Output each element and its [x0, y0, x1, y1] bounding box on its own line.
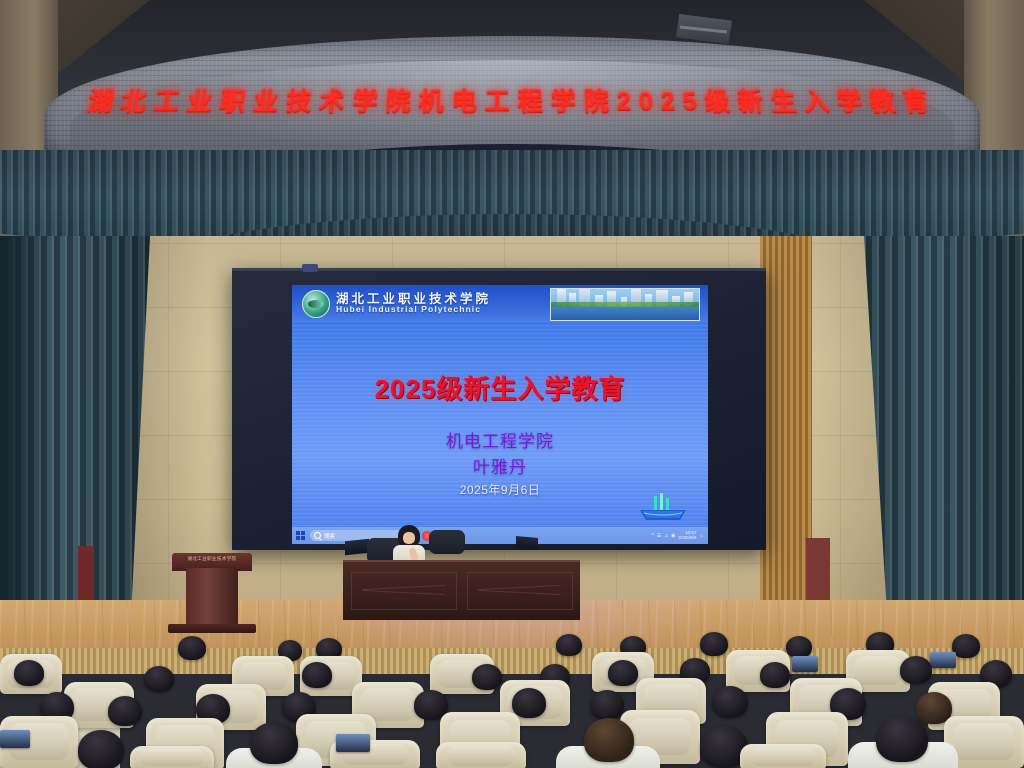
stage-prop-left — [78, 546, 94, 600]
audience-head — [78, 730, 124, 768]
audience-head — [108, 696, 142, 726]
slide-header-bar: 湖北工业职业技术学院 Hubei Industrial Polytechnic — [292, 285, 708, 321]
ship-logo-icon — [636, 492, 690, 522]
table-panel-right — [467, 572, 573, 610]
head-table — [343, 560, 580, 620]
campus-panorama-photo — [550, 288, 700, 321]
audience-head — [512, 688, 546, 718]
desk-monitor — [336, 734, 370, 752]
taskbar-search-placeholder: 搜索 — [324, 532, 335, 540]
audience-head — [608, 660, 638, 686]
slide-subtitle-presenter: 叶雅丹 — [292, 453, 708, 478]
desk-monitor — [0, 730, 30, 748]
slide-subtitle-department: 机电工程学院 — [292, 427, 708, 452]
audience-head — [250, 722, 298, 764]
audience-head — [786, 636, 812, 658]
audience-head — [900, 656, 932, 684]
volume-icon[interactable]: ♫ — [664, 533, 668, 539]
curtain-left-shadow — [0, 236, 52, 656]
presenter-person — [392, 525, 426, 563]
laptop-right — [516, 536, 538, 550]
search-icon — [314, 532, 321, 539]
curtain-right-pleats — [864, 236, 1024, 656]
school-crest-icon — [302, 290, 330, 318]
led-banner: 湖北工业职业技术学院机电工程学院2025级新生入学教育 — [44, 36, 980, 166]
input-method-icon[interactable]: ◉ — [671, 533, 675, 539]
system-tray[interactable]: ^ ☰ ♫ ◉ 10:57 2025/9/6 ☼ — [652, 531, 704, 541]
audience-seat — [740, 744, 826, 768]
taskbar-clock[interactable]: 10:57 2025/9/6 — [679, 531, 697, 541]
audience-head — [760, 662, 790, 688]
panel-indicator-icon — [302, 264, 318, 272]
chevron-up-icon[interactable]: ^ — [652, 533, 654, 539]
audience-head — [302, 662, 332, 688]
desk-monitor — [792, 656, 818, 672]
audience-head — [472, 664, 502, 690]
notification-bell-icon[interactable]: ☼ — [699, 533, 704, 539]
audience-head — [876, 716, 928, 762]
audience-head — [144, 666, 174, 692]
laptop-left — [345, 539, 369, 556]
stage-curtain-right — [864, 236, 1024, 656]
audience-head — [14, 660, 44, 686]
table-panel-left — [351, 572, 457, 610]
audience-seat — [436, 742, 526, 768]
slide-school-name-en: Hubei Industrial Polytechnic — [336, 304, 481, 314]
audience-head — [700, 632, 728, 656]
slide-title: 2025级新生入学教育 — [292, 369, 708, 406]
audience-head — [556, 634, 582, 656]
audience-seat — [130, 746, 214, 768]
desk-monitor — [930, 652, 956, 668]
led-banner-text: 湖北工业职业技术学院机电工程学院2025级新生入学教育 — [40, 82, 984, 117]
audience-head — [590, 690, 624, 720]
audience-seating — [0, 630, 1024, 768]
audience-head — [584, 718, 634, 762]
wood-slat-column-right — [760, 236, 812, 628]
presentation-slide: 湖北工业职业技术学院 Hubei Industrial Polytechnic … — [292, 285, 708, 530]
audience-head — [952, 634, 980, 658]
spare-chair — [429, 530, 465, 554]
network-icon[interactable]: ☰ — [657, 533, 661, 539]
audience-head — [178, 636, 206, 660]
presenter-face — [403, 532, 415, 544]
windows-start-icon[interactable] — [296, 531, 305, 540]
podium-label-cn: 湖北工业职业技术学院 — [172, 556, 252, 563]
podium-body — [186, 568, 238, 626]
clock-date: 2025/9/6 — [679, 535, 697, 540]
auditorium-photo: 湖北工业职业技术学院机电工程学院2025级新生入学教育 湖北工业职业技术学院 — [0, 0, 1024, 768]
audience-head — [712, 686, 748, 718]
